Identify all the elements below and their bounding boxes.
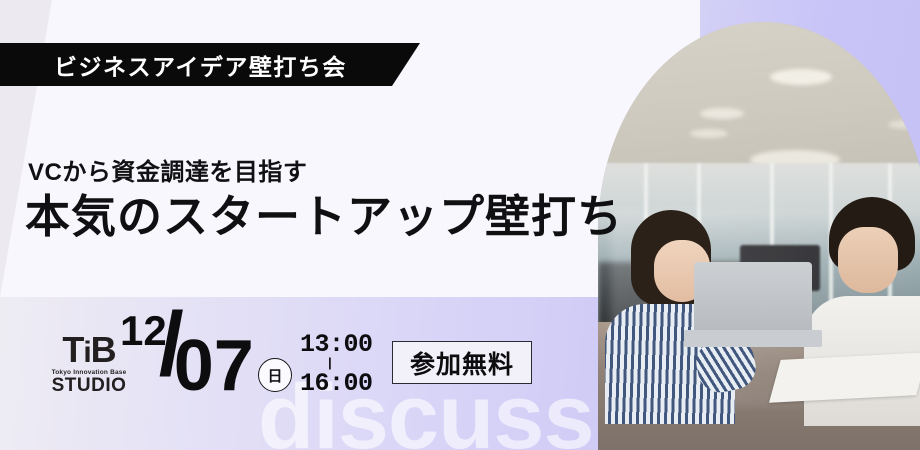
ceiling-light-icon [700, 108, 744, 119]
photo-laptop-screen [694, 262, 813, 335]
event-subtitle: VCから資金調達を目指す [28, 152, 307, 187]
ceiling-light-icon [770, 69, 832, 85]
event-time-separator: | [326, 358, 373, 370]
category-tag: ビジネスアイデア壁打ち会 [0, 43, 420, 86]
tib-logo-b: B [91, 329, 116, 370]
photo-container [598, 22, 920, 450]
event-banner: discussion [0, 0, 920, 450]
event-time-end: 16:00 [300, 371, 373, 396]
event-date-day: 07 [174, 330, 254, 402]
event-time: 13:00 | 16:00 [300, 332, 373, 396]
free-admission-label: 参加無料 [410, 345, 514, 381]
event-date: 12 / 07 [120, 310, 254, 402]
office-discussion-photo [598, 22, 920, 450]
photo-laptop-base [684, 330, 823, 347]
photo-paper-document [769, 352, 920, 402]
event-title: 本気のスタートアップ壁打ち [25, 192, 623, 242]
event-day-of-week-badge: 日 [258, 358, 292, 392]
photo-person-right-face [838, 227, 898, 293]
tib-logo-i: i [83, 336, 90, 369]
free-admission-badge: 参加無料 [392, 341, 532, 384]
category-tag-label: ビジネスアイデア壁打ち会 [54, 48, 347, 82]
event-time-start: 13:00 [300, 332, 373, 357]
tib-logo-t: T [62, 329, 83, 370]
